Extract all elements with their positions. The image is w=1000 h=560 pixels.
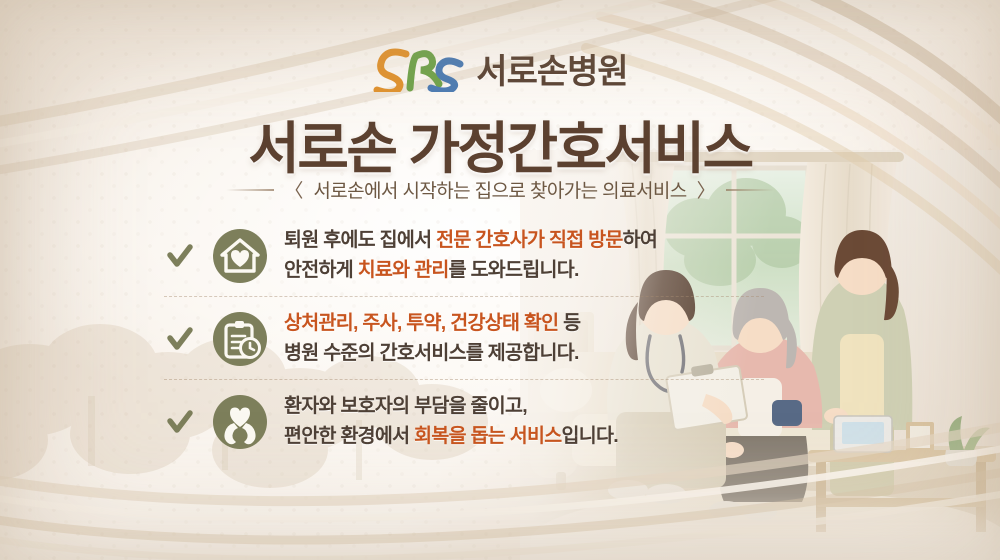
poster-root: 서로손병원 서로손 가정간호서비스 〈 서로손에서 시작하는 집으로 찾아가는 … bbox=[0, 0, 1000, 560]
list-item: 환자와 보호자의 부담을 줄이고, 편안한 환경에서 회복을 돕는 서비스입니다… bbox=[164, 379, 764, 458]
line2-post: 를 도와드립니다. bbox=[449, 259, 579, 281]
brand-lockup: 서로손병원 bbox=[0, 44, 1000, 93]
check-icon bbox=[164, 240, 196, 272]
line2-highlight: 회복을 돕는 서비스 bbox=[414, 425, 561, 447]
line1-highlight: 전문 간호사가 직접 방문 bbox=[436, 229, 623, 251]
line2-pre: 병원 수준의 간호서비스를 제공합니다. bbox=[284, 342, 579, 364]
list-item: 상처관리, 주사, 투약, 건강상태 확인 등 병원 수준의 간호서비스를 제공… bbox=[164, 296, 764, 375]
clipboard-clock-icon bbox=[212, 311, 268, 367]
line1-pre: 퇴원 후에도 집에서 bbox=[284, 229, 436, 251]
hands-heart-icon bbox=[212, 394, 268, 450]
page-title: 서로손 가정간호서비스 bbox=[0, 104, 1000, 185]
list-item-text: 퇴원 후에도 집에서 전문 간호사가 직접 방문하여 안전하게 치료와 관리를 … bbox=[284, 226, 657, 285]
line1-highlight: 상처관리, 주사, 투약, 건강상태 확인 bbox=[284, 312, 558, 334]
list-item: 퇴원 후에도 집에서 전문 간호사가 직접 방문하여 안전하게 치료와 관리를 … bbox=[164, 220, 764, 292]
hospital-name: 서로손병원 bbox=[476, 44, 627, 93]
line2-pre: 안전하게 bbox=[284, 259, 358, 281]
line1-post: 등 bbox=[558, 312, 580, 334]
subtitle-bracket-right: 〉 bbox=[697, 176, 716, 203]
line2-pre: 편안한 환경에서 bbox=[284, 425, 414, 447]
check-icon bbox=[164, 323, 196, 355]
line1-pre: 환자와 보호자의 부담을 줄이고, bbox=[284, 395, 527, 417]
subtitle-row: 〈 서로손에서 시작하는 집으로 찾아가는 의료서비스 〉 bbox=[0, 176, 1000, 203]
line1-post: 하여 bbox=[623, 229, 657, 251]
list-item-text: 환자와 보호자의 부담을 줄이고, 편안한 환경에서 회복을 돕는 서비스입니다… bbox=[284, 392, 618, 451]
feature-list: 퇴원 후에도 집에서 전문 간호사가 직접 방문하여 안전하게 치료와 관리를 … bbox=[164, 220, 764, 458]
list-item-text: 상처관리, 주사, 투약, 건강상태 확인 등 병원 수준의 간호서비스를 제공… bbox=[284, 309, 580, 368]
srs-brush-logo bbox=[372, 46, 468, 92]
subtitle-text: 서로손에서 시작하는 집으로 찾아가는 의료서비스 bbox=[313, 176, 686, 203]
subtitle-rule-right bbox=[726, 189, 774, 191]
line2-post: 입니다. bbox=[561, 425, 617, 447]
check-icon bbox=[164, 406, 196, 438]
line2-highlight: 치료와 관리 bbox=[358, 259, 449, 281]
subtitle-rule-left bbox=[226, 189, 274, 191]
subtitle-bracket-left: 〈 bbox=[284, 176, 303, 203]
home-heart-icon bbox=[212, 228, 268, 284]
